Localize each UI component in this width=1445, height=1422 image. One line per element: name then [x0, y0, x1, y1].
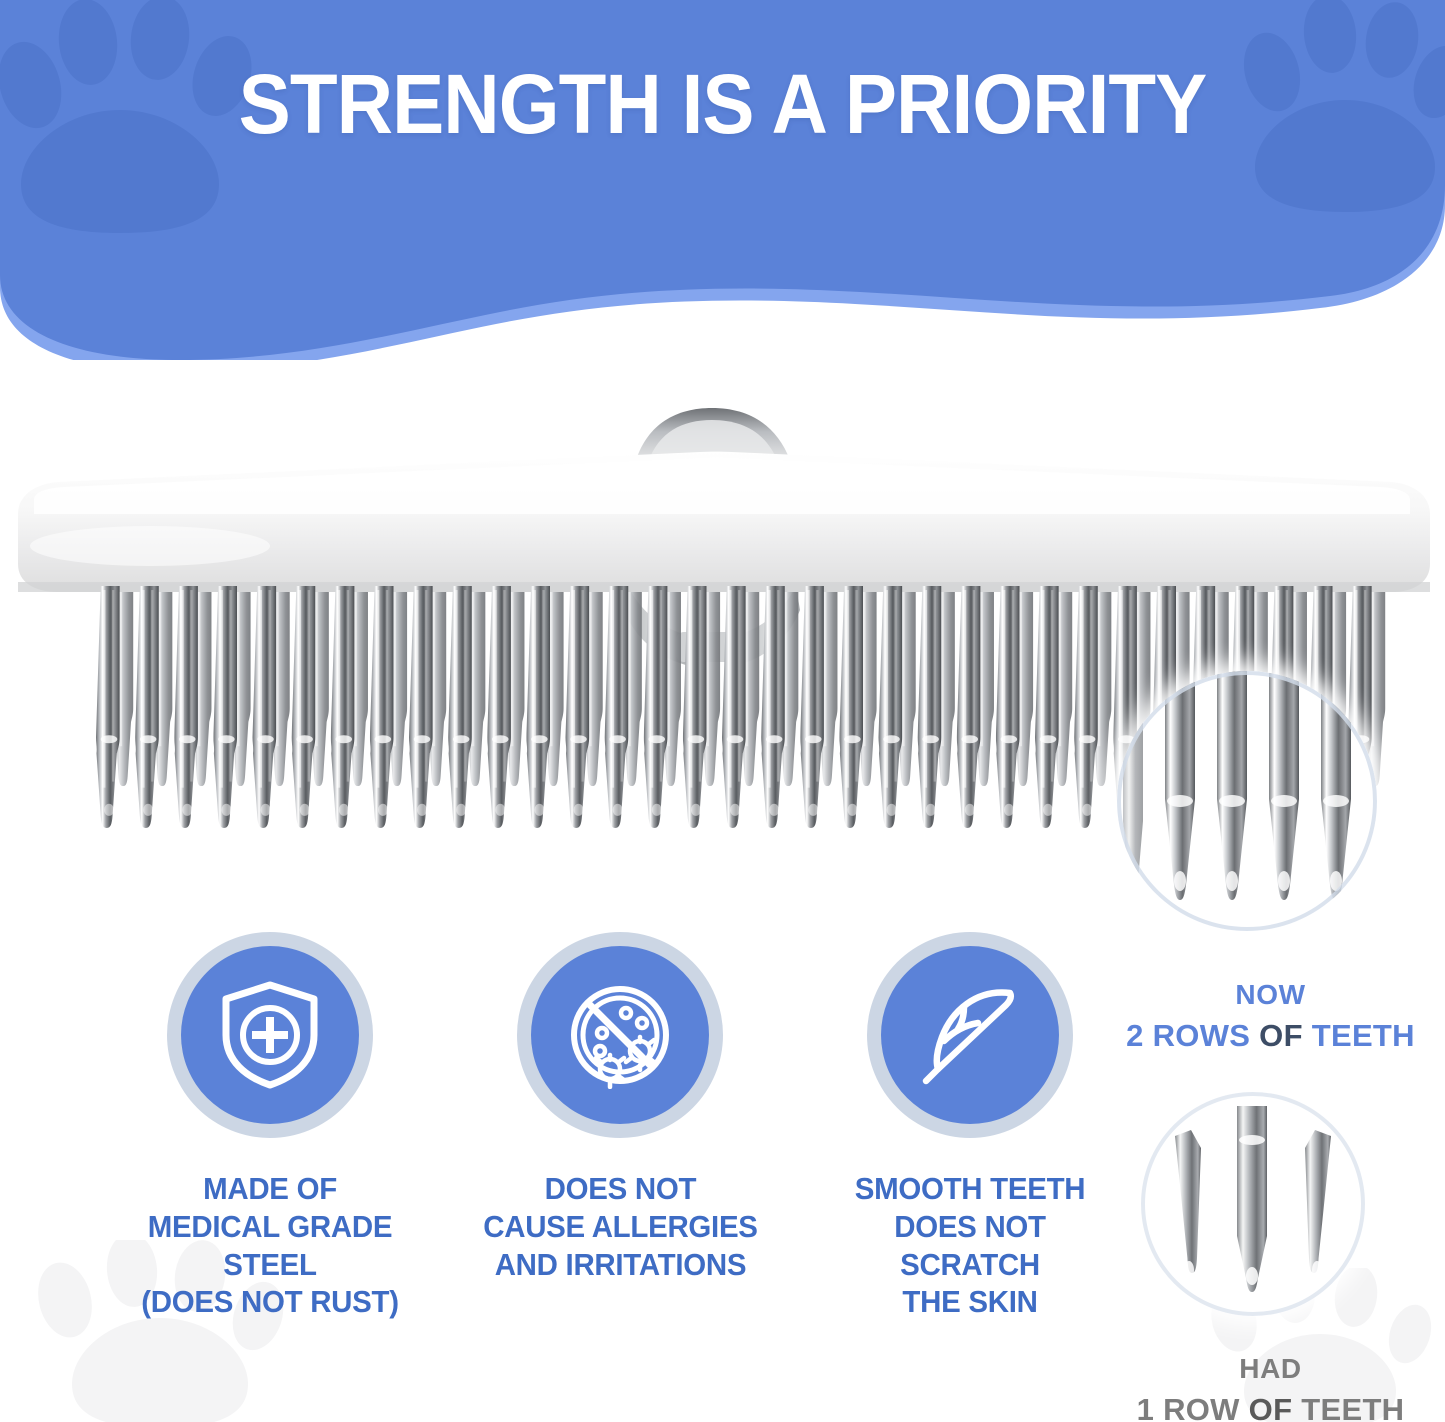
had-count: 1 ROW — [1137, 1392, 1240, 1422]
banner-shape — [0, 0, 1445, 360]
had-middle-word: OF — [1249, 1392, 1293, 1422]
icon-disc — [881, 946, 1059, 1124]
icon-disc — [181, 946, 359, 1124]
now-count: 2 ROWS — [1126, 1018, 1250, 1053]
magnifier-two-rows — [1117, 671, 1377, 931]
feather-icon — [914, 979, 1026, 1091]
now-detail: 2 ROWS OF TEETH — [1098, 1017, 1443, 1054]
had-heading: HAD — [1098, 1352, 1443, 1386]
feature-no-allergies[interactable]: DOES NOT CAUSE ALLERGIES AND IRRITATIONS — [470, 932, 770, 1283]
shield-plus-icon — [218, 979, 322, 1091]
now-tail: TEETH — [1312, 1018, 1415, 1053]
feature-medical-grade-steel[interactable]: MADE OF MEDICAL GRADE STEEL (DOES NOT RU… — [120, 932, 420, 1321]
header-banner: STRENGTH IS A PRIORITY — [0, 0, 1445, 360]
feature-caption: MADE OF MEDICAL GRADE STEEL (DOES NOT RU… — [128, 1170, 413, 1321]
page-title: STRENGTH IS A PRIORITY — [51, 62, 1395, 146]
feature-list: MADE OF MEDICAL GRADE STEEL (DOES NOT RU… — [120, 932, 1120, 1282]
icon-ring — [867, 932, 1073, 1138]
now-heading: NOW — [1098, 978, 1443, 1012]
magnifier-one-row — [1141, 1092, 1365, 1316]
infographic-canvas: STRENGTH IS A PRIORITY — [0, 0, 1445, 1422]
icon-ring — [167, 932, 373, 1138]
feature-caption: DOES NOT CAUSE ALLERGIES AND IRRITATIONS — [483, 1170, 757, 1283]
icon-disc — [531, 946, 709, 1124]
label-now-two-rows: NOW 2 ROWS OF TEETH — [1098, 978, 1443, 1054]
now-middle-word: OF — [1259, 1018, 1303, 1053]
had-tail: TEETH — [1301, 1392, 1404, 1422]
no-germs-icon — [566, 981, 674, 1089]
label-had-one-row: HAD 1 ROW OF TEETH — [1098, 1352, 1443, 1422]
comb-body — [18, 452, 1430, 592]
feature-caption: SMOOTH TEETH DOES NOT SCRATCH THE SKIN — [828, 1170, 1113, 1321]
feature-smooth-teeth[interactable]: SMOOTH TEETH DOES NOT SCRATCH THE SKIN — [820, 932, 1120, 1321]
had-detail: 1 ROW OF TEETH — [1098, 1391, 1443, 1422]
icon-ring — [517, 932, 723, 1138]
